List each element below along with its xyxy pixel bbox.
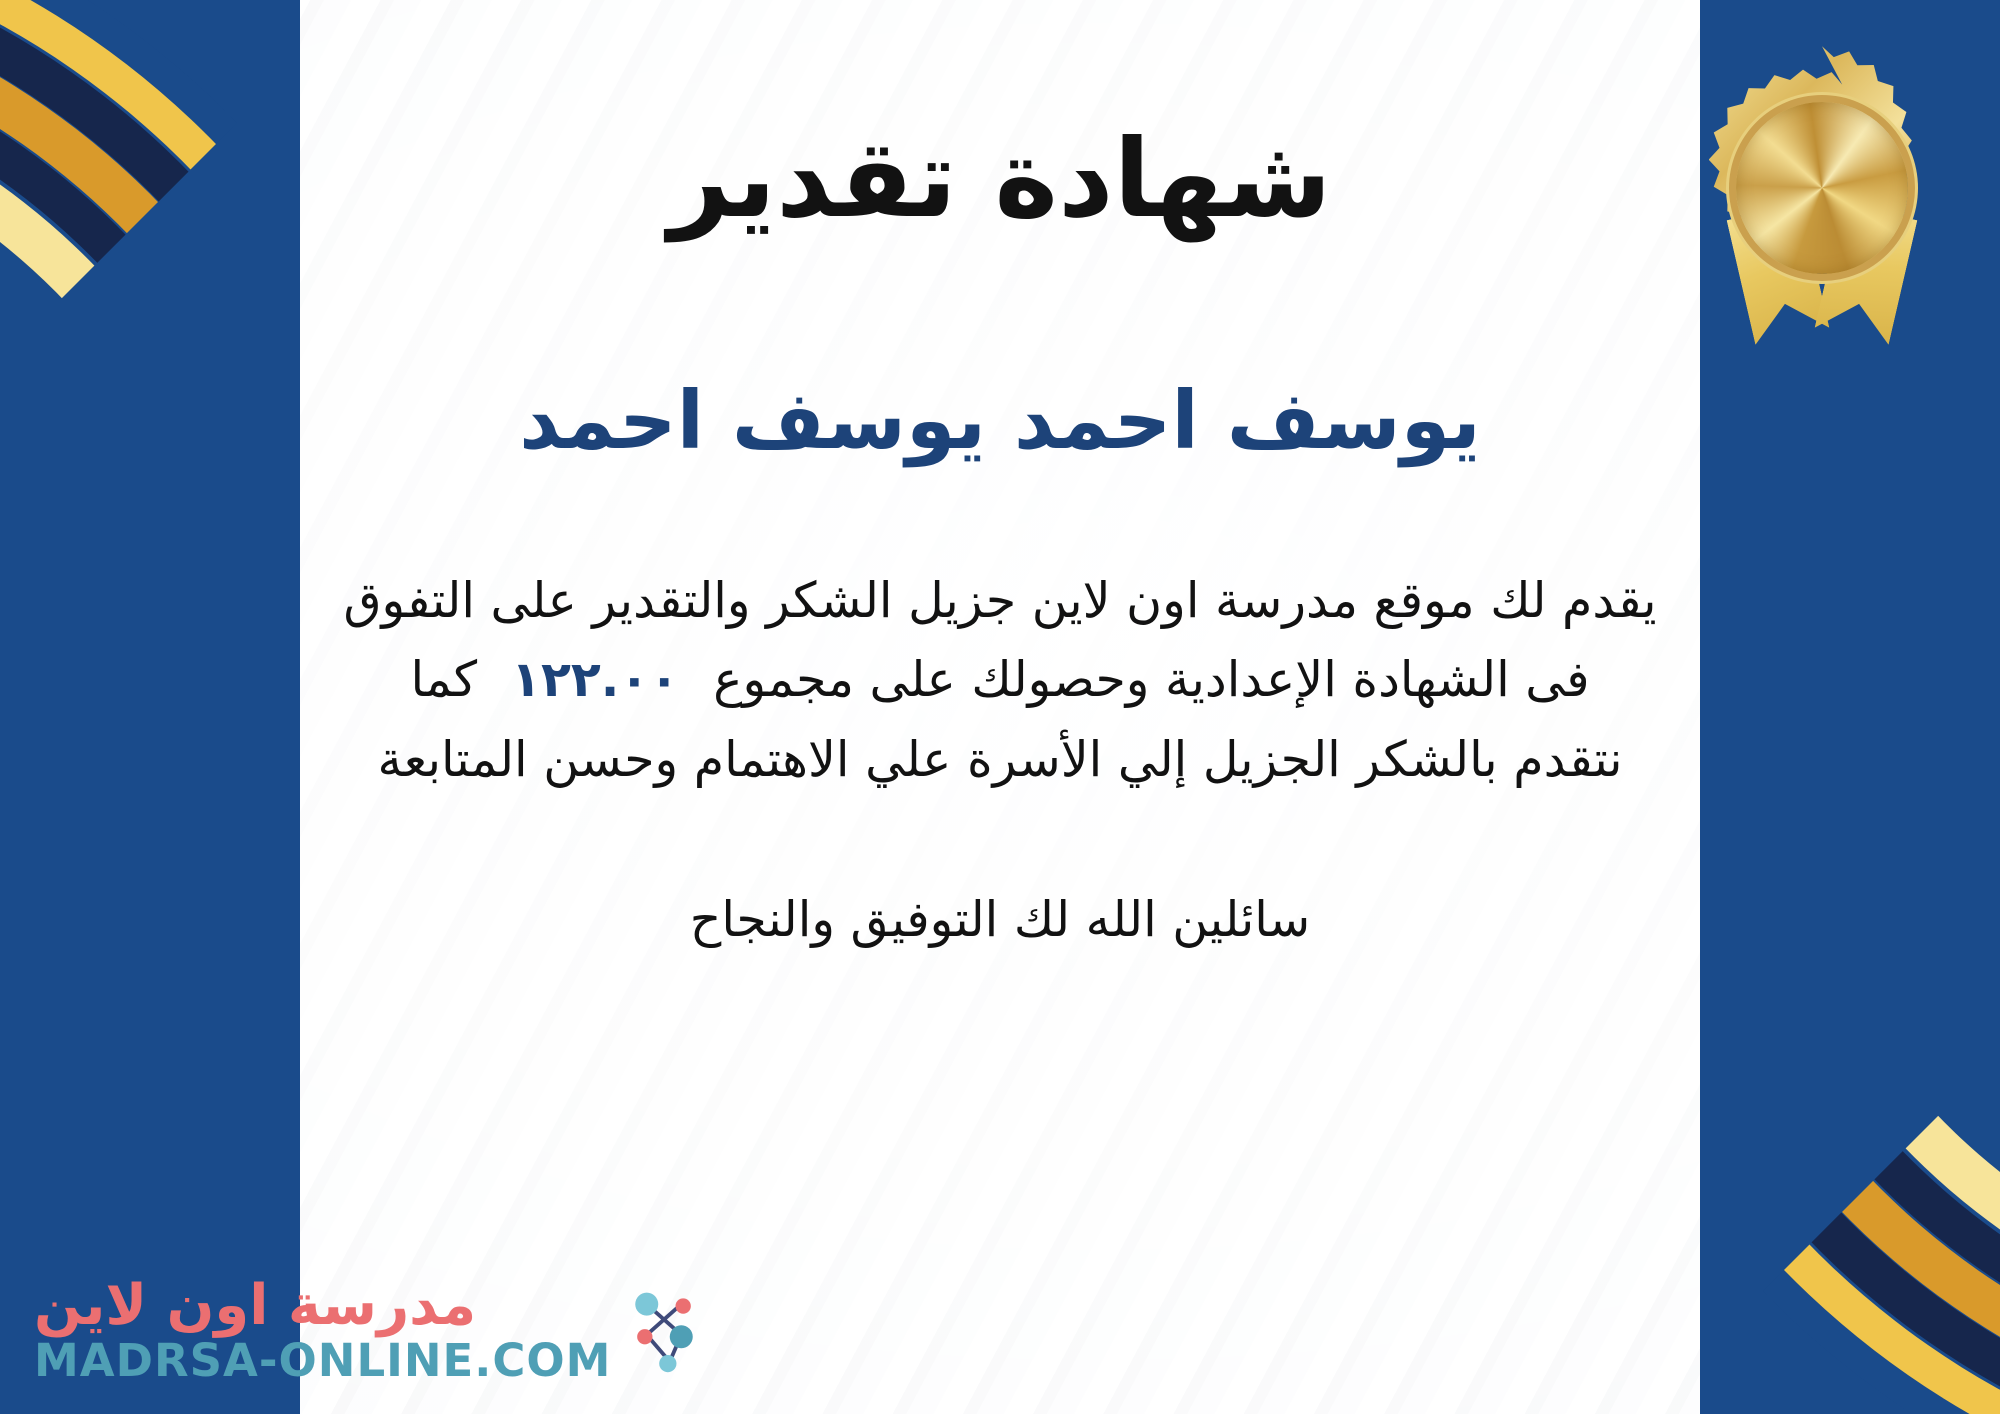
certificate-title: شهادة تقدير: [668, 120, 1331, 241]
node-top-right: [676, 1299, 691, 1314]
certificate-content: شهادة تقدير يوسف احمد يوسف احمد يقدم لك …: [0, 0, 2000, 1414]
medal-center-disc: [1736, 102, 1908, 274]
brand-name-arabic: مدرسة اون لاين: [34, 1277, 476, 1336]
brand-logo[interactable]: مدرسة اون لاين MADRSA-ONLINE.COM: [34, 1277, 703, 1386]
node-top-left: [636, 1293, 659, 1316]
body-line-3: نتقدم بالشكر الجزيل إلي الأسرة علي الاهت…: [290, 720, 1710, 799]
certificate-body: يقدم لك موقع مدرسة اون لاين جزيل الشكر و…: [290, 561, 1710, 799]
certificate-canvas: شهادة تقدير يوسف احمد يوسف احمد يقدم لك …: [0, 0, 2000, 1414]
body-line-2-suffix: كما: [410, 651, 477, 708]
closing-wish: سائلين الله لك التوفيق والنجاح: [690, 891, 1310, 948]
brand-website: MADRSA-ONLINE.COM: [34, 1336, 611, 1386]
node-bottom: [660, 1355, 677, 1372]
body-line-1: يقدم لك موقع مدرسة اون لاين جزيل الشكر و…: [290, 561, 1710, 640]
brand-logo-text: مدرسة اون لاين MADRSA-ONLINE.COM: [34, 1277, 611, 1386]
body-line-2-prefix: فى الشهادة الإعدادية وحصولك على مجموع: [713, 651, 1589, 708]
recipient-name: يوسف احمد يوسف احمد: [519, 373, 1481, 469]
award-medal-icon: [1704, 38, 1940, 338]
node-mid-left: [638, 1329, 653, 1344]
node-mid-right: [670, 1326, 693, 1349]
total-score-value: ١٢٢.٠٠: [477, 651, 713, 708]
body-line-2: فى الشهادة الإعدادية وحصولك على مجموع١٢٢…: [290, 640, 1710, 719]
network-nodes-icon: [625, 1285, 703, 1377]
